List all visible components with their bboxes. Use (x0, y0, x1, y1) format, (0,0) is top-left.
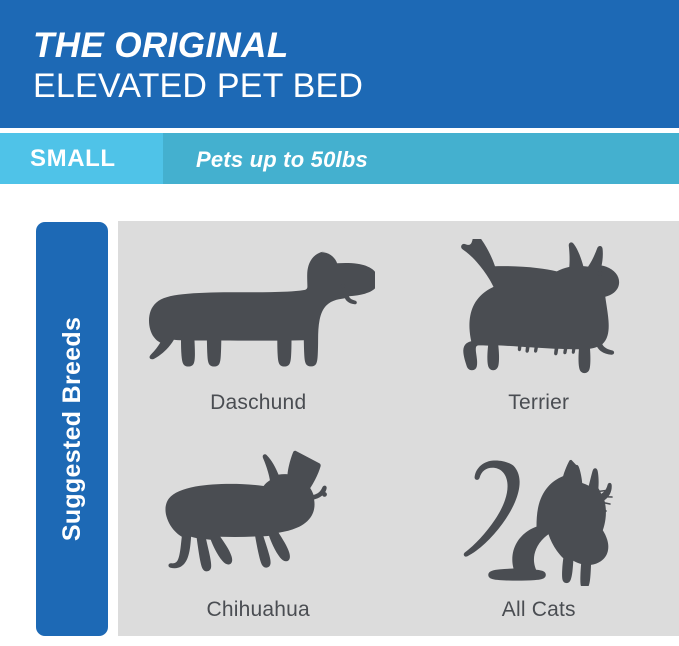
breed-cell-terrier: Terrier (399, 221, 679, 429)
breed-cell-daschund: Daschund (118, 221, 399, 429)
breed-label: Daschund (210, 391, 306, 429)
page-title-primary: THE ORIGINAL (33, 26, 633, 66)
sidebar-label: Suggested Breeds (36, 222, 108, 636)
cat-silhouette-icon (399, 429, 679, 599)
dachshund-silhouette-icon (118, 221, 399, 391)
breed-grid: Daschund Terrier (118, 221, 679, 636)
breed-label: All Cats (502, 598, 576, 636)
size-label: SMALL (30, 146, 116, 172)
breed-cell-chihuahua: Chihuahua (118, 429, 399, 637)
terrier-silhouette-icon (399, 221, 679, 391)
suggested-breeds-sidebar: Suggested Breeds (36, 222, 108, 636)
header-banner: THE ORIGINAL ELEVATED PET BED (0, 0, 679, 128)
breed-panel: Daschund Terrier (118, 221, 679, 636)
breed-label: Terrier (508, 391, 569, 429)
weight-capacity-label: Pets up to 50lbs (196, 147, 368, 172)
header-title-group: THE ORIGINAL ELEVATED PET BED (33, 26, 633, 107)
chihuahua-silhouette-icon (118, 429, 399, 599)
page-title-secondary: ELEVATED PET BED (33, 66, 633, 107)
breed-label: Chihuahua (207, 598, 310, 636)
breed-cell-all-cats: All Cats (399, 429, 679, 637)
product-infographic: THE ORIGINAL ELEVATED PET BED SMALL Pets… (0, 0, 679, 646)
size-band: SMALL Pets up to 50lbs (0, 133, 679, 184)
